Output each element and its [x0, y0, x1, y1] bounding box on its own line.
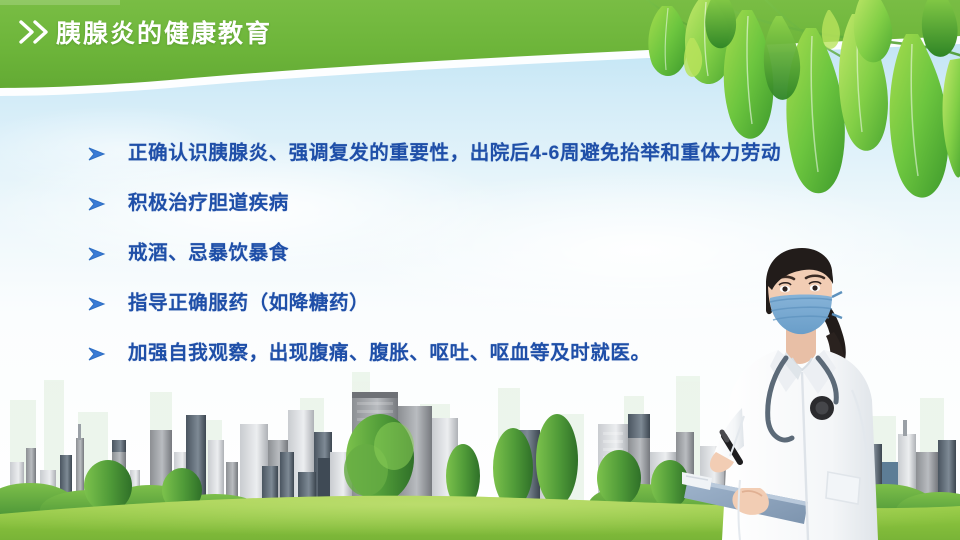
arrowhead-bullet-icon [88, 338, 128, 361]
arrowhead-bullet-icon [88, 288, 128, 311]
list-item: 指导正确服药（如降糖药） [88, 288, 888, 338]
list-item-text: 指导正确服药（如降糖药） [128, 288, 369, 318]
double-chevron-right-icon [18, 19, 54, 45]
page-title: 胰腺炎的健康教育 [56, 14, 272, 50]
slide-canvas: 胰腺炎的健康教育 [0, 0, 960, 540]
list-item: 戒酒、忌暴饮暴食 [88, 238, 888, 288]
arrowhead-bullet-icon [88, 238, 128, 261]
list-item: 积极治疗胆道疾病 [88, 188, 888, 238]
list-item-text: 戒酒、忌暴饮暴食 [128, 238, 289, 268]
list-item-text: 加强自我观察，出现腹痛、腹胀、呕吐、呕血等及时就医。 [128, 338, 651, 368]
list-item: 加强自我观察，出现腹痛、腹胀、呕吐、呕血等及时就医。 [88, 338, 888, 388]
list-item-text: 正确认识胰腺炎、强调复发的重要性，出院后4-6周避免抬举和重体力劳动 [128, 138, 781, 168]
list-item-text: 积极治疗胆道疾病 [128, 188, 289, 218]
arrowhead-bullet-icon [88, 138, 128, 161]
bullet-list: 正确认识胰腺炎、强调复发的重要性，出院后4-6周避免抬举和重体力劳动 积极治疗胆… [88, 138, 888, 388]
arrowhead-bullet-icon [88, 188, 128, 211]
list-item: 正确认识胰腺炎、强调复发的重要性，出院后4-6周避免抬举和重体力劳动 [88, 138, 888, 188]
